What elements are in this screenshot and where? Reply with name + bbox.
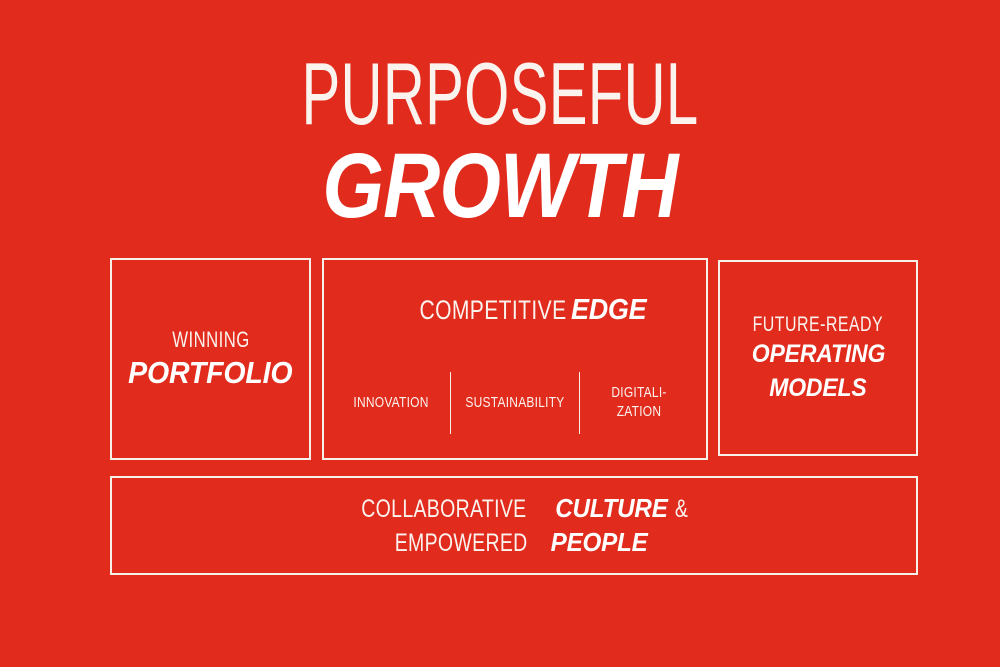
pillar-models-title-line2: MODELS (769, 373, 866, 404)
subitem-innovation: INNOVATION (332, 394, 450, 413)
pillar-portfolio-prefix: WINNING (172, 328, 249, 352)
slide-title: PURPOSEFUL GROWTH (0, 52, 1000, 232)
pillar-card-competitive-edge: COMPETITIVEEDGE INNOVATION SUSTAINABILIT… (322, 258, 708, 460)
foundation-card-culture-people: COLLABORATIVECULTURE& EMPOWEREDPEOPLE (110, 476, 918, 575)
pillar-card-operating-models: FUTURE-READY OPERATING MODELS (718, 260, 918, 456)
pillar-edge-heading: COMPETITIVEEDGE (324, 294, 706, 327)
subitem-digitalization-label: DIGITALI- ZATION (593, 384, 684, 422)
pillar-card-winning-portfolio: WINNING PORTFOLIO (110, 258, 311, 460)
foundation-people-label: PEOPLE (551, 526, 648, 559)
pillar-edge-subitems: INNOVATION SUSTAINABILITY DIGITALI- ZATI… (332, 370, 698, 436)
title-line-purposeful: PURPOSEFUL (170, 52, 830, 136)
foundation-ampersand: & (675, 493, 688, 525)
title-line-growth: GROWTH (70, 140, 930, 232)
foundation-line-2: EMPOWEREDPEOPLE (376, 526, 653, 559)
pillar-edge-prefix: COMPETITIVE (420, 295, 567, 326)
subitem-sustainability-label: SUSTAINABILITY (465, 394, 564, 413)
foundation-line-1: COLLABORATIVECULTURE& (338, 492, 690, 525)
foundation-empowered-label: EMPOWERED (394, 527, 527, 559)
foundation-collaborative-label: COLLABORATIVE (361, 493, 526, 525)
subitem-sustainability: SUSTAINABILITY (451, 394, 579, 413)
foundation-culture-label: CULTURE (555, 492, 667, 525)
subitem-digitalization: DIGITALI- ZATION (580, 384, 698, 422)
subitem-innovation-label: INNOVATION (345, 394, 436, 413)
strategy-framework-slide: PURPOSEFUL GROWTH WINNING PORTFOLIO COMP… (0, 0, 1000, 667)
pillar-portfolio-title: PORTFOLIO (128, 355, 292, 391)
pillar-models-prefix: FUTURE-READY (753, 313, 884, 336)
pillar-edge-title: EDGE (571, 294, 646, 327)
pillar-models-title-line1: OPERATING (751, 339, 884, 370)
